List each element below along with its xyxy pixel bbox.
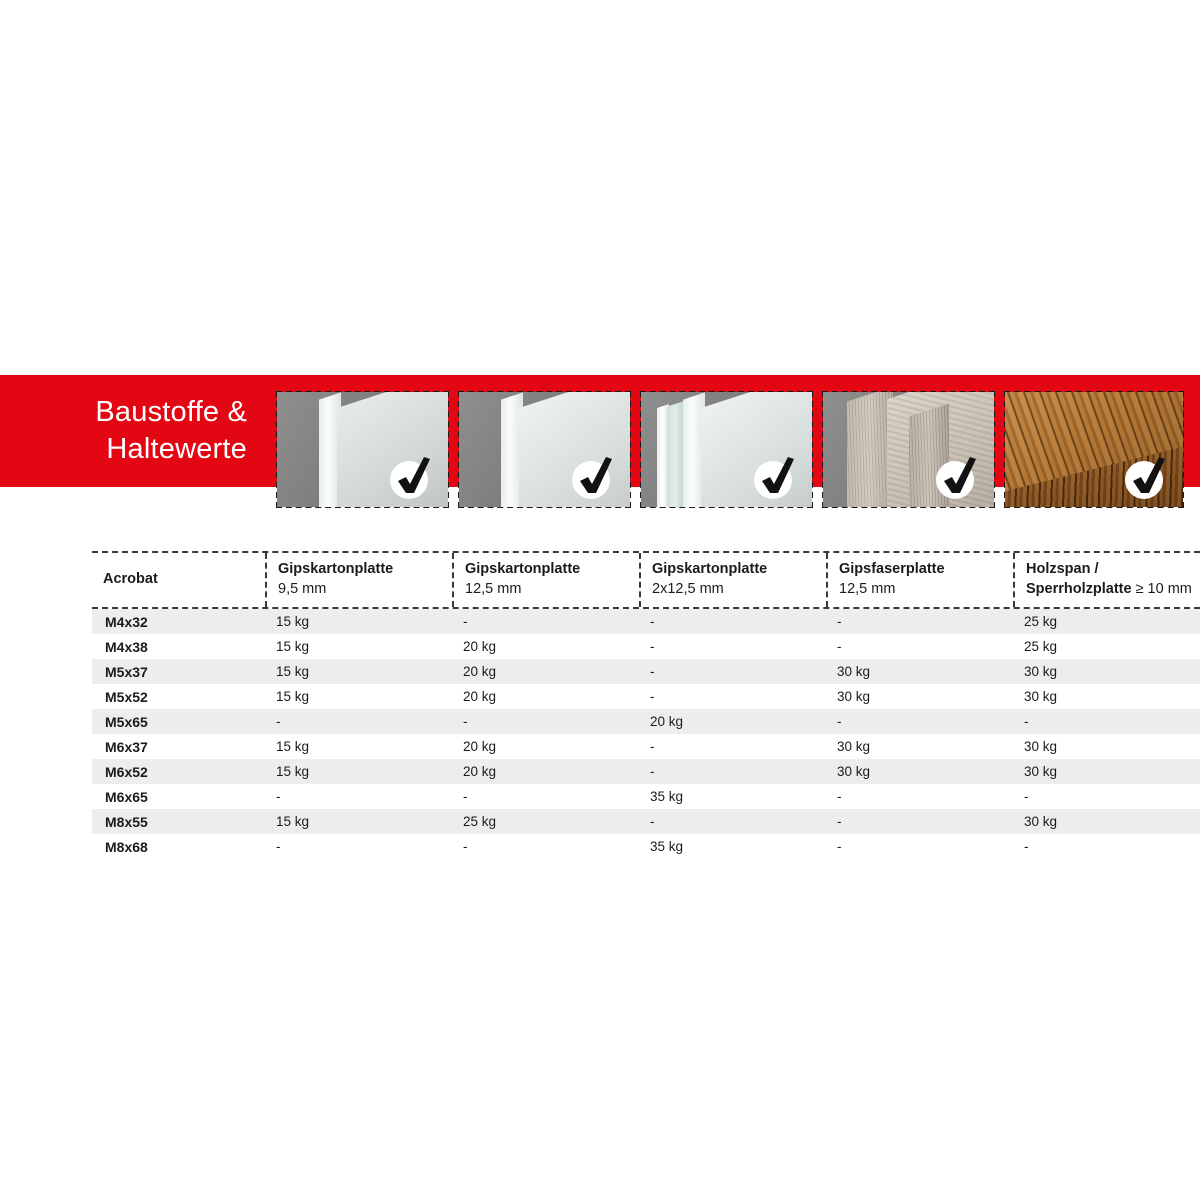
material-tile-strip (277, 392, 1200, 507)
column-header-subtitle: 2x12,5 mm (652, 580, 826, 600)
banner-title-line1: Baustoffe & (95, 394, 247, 431)
cell-value: 25 kg (1013, 639, 1200, 654)
cell-value: 15 kg (265, 814, 452, 829)
cell-value: - (639, 639, 826, 654)
cell-model: M6x65 (92, 789, 265, 805)
check-mark-icon (1125, 455, 1169, 499)
cell-value: - (826, 814, 1013, 829)
check-mark-icon (754, 455, 798, 499)
table-row: M6x5215 kg20 kg-30 kg30 kg (92, 759, 1200, 784)
banner-title: Baustoffe & Haltewerte (0, 375, 265, 487)
cell-value: 20 kg (452, 639, 639, 654)
cell-value: - (1013, 839, 1200, 854)
holding-values-table: Acrobat Gipskartonplatte 9,5 mm Gipskart… (92, 551, 1200, 859)
cell-model: M8x55 (92, 814, 265, 830)
cell-value: - (265, 789, 452, 804)
material-tile-gypsum-board-12-5 (459, 392, 630, 507)
column-header-title: Gipskartonplatte (278, 560, 452, 580)
cell-value: 15 kg (265, 664, 452, 679)
column-header-gipskartonplatte-12-5: Gipskartonplatte 12,5 mm (452, 553, 639, 607)
column-header-title: Acrobat (103, 570, 265, 590)
cell-value: - (826, 639, 1013, 654)
table-header: Acrobat Gipskartonplatte 9,5 mm Gipskart… (92, 551, 1200, 609)
banner-title-line2: Haltewerte (106, 431, 247, 468)
cell-value: 25 kg (452, 814, 639, 829)
column-header-gipskartonplatte-9-5: Gipskartonplatte 9,5 mm (265, 553, 452, 607)
cell-value: 30 kg (1013, 664, 1200, 679)
cell-value: - (826, 789, 1013, 804)
material-tile-gypsum-board-double-12-5 (641, 392, 812, 507)
check-mark-icon (390, 455, 434, 499)
column-header-title: Gipskartonplatte (652, 560, 826, 580)
column-header-title: Gipskartonplatte (465, 560, 639, 580)
table-row: M5x3715 kg20 kg-30 kg30 kg (92, 659, 1200, 684)
table-row: M8x5515 kg25 kg--30 kg (92, 809, 1200, 834)
table-header-row: Acrobat Gipskartonplatte 9,5 mm Gipskart… (92, 553, 1200, 607)
cell-value: - (826, 839, 1013, 854)
column-header-subtitle: 12,5 mm (839, 580, 1013, 600)
cell-value: 30 kg (826, 689, 1013, 704)
column-header-subtitle: 12,5 mm (465, 580, 639, 600)
page-root: Baustoffe & Haltewerte (0, 0, 1200, 1200)
column-header-subtitle: Sperrholzplatte ≥ 10 mm (1026, 580, 1200, 600)
board-core-layer (667, 401, 683, 507)
material-tile-gypsum-fibre-board-12-5 (823, 392, 994, 507)
check-mark-icon (572, 455, 616, 499)
column-header-acrobat: Acrobat (92, 553, 265, 607)
table-row: M4x3815 kg20 kg--25 kg (92, 634, 1200, 659)
table-body: M4x3215 kg---25 kgM4x3815 kg20 kg--25 kg… (92, 609, 1200, 859)
column-header-gipsfaserplatte-12-5: Gipsfaserplatte 12,5 mm (826, 553, 1013, 607)
cell-value: 15 kg (265, 764, 452, 779)
cell-value: 20 kg (452, 739, 639, 754)
cell-value: - (639, 814, 826, 829)
cell-value: - (265, 839, 452, 854)
cell-value: 30 kg (1013, 764, 1200, 779)
column-header-holzspan-sperrholzplatte: Holzspan / Sperrholzplatte ≥ 10 mm (1013, 553, 1200, 607)
cell-model: M6x37 (92, 739, 265, 755)
cell-value: 35 kg (639, 789, 826, 804)
cell-value: 20 kg (452, 689, 639, 704)
cell-value: - (452, 789, 639, 804)
column-header-subtitle: 9,5 mm (278, 580, 452, 600)
table-row: M5x65--20 kg-- (92, 709, 1200, 734)
cell-value: 25 kg (1013, 614, 1200, 629)
cell-value: 30 kg (1013, 814, 1200, 829)
cell-model: M4x32 (92, 614, 265, 630)
cell-value: 15 kg (265, 614, 452, 629)
cell-value: 15 kg (265, 639, 452, 654)
cell-value: 30 kg (1013, 689, 1200, 704)
table-row: M6x3715 kg20 kg-30 kg30 kg (92, 734, 1200, 759)
cell-value: - (1013, 789, 1200, 804)
check-mark-icon (936, 455, 980, 499)
cell-value: - (452, 839, 639, 854)
cell-value: - (1013, 714, 1200, 729)
column-header-title: Holzspan / (1026, 560, 1200, 580)
cell-value: 30 kg (826, 664, 1013, 679)
cell-value: - (826, 614, 1013, 629)
cell-value: - (639, 689, 826, 704)
column-header-title: Gipsfaserplatte (839, 560, 1013, 580)
cell-value: - (639, 614, 826, 629)
cell-value: 20 kg (639, 714, 826, 729)
table-row: M6x65--35 kg-- (92, 784, 1200, 809)
cell-model: M6x52 (92, 764, 265, 780)
cell-value: 30 kg (1013, 739, 1200, 754)
cell-value: 35 kg (639, 839, 826, 854)
cell-value: - (452, 614, 639, 629)
column-header-gipskartonplatte-2x12-5: Gipskartonplatte 2x12,5 mm (639, 553, 826, 607)
material-tile-chipboard-plywood (1005, 392, 1183, 507)
cell-model: M4x38 (92, 639, 265, 655)
cell-value: - (452, 714, 639, 729)
cell-model: M8x68 (92, 839, 265, 855)
table-row: M4x3215 kg---25 kg (92, 609, 1200, 634)
table-row: M5x5215 kg20 kg-30 kg30 kg (92, 684, 1200, 709)
cell-value: - (639, 664, 826, 679)
cell-value: - (639, 739, 826, 754)
cell-value: - (826, 714, 1013, 729)
cell-value: - (265, 714, 452, 729)
cell-value: 15 kg (265, 739, 452, 754)
table-row: M8x68--35 kg-- (92, 834, 1200, 859)
cell-model: M5x65 (92, 714, 265, 730)
cell-value: 20 kg (452, 664, 639, 679)
cell-value: - (639, 764, 826, 779)
cell-model: M5x37 (92, 664, 265, 680)
cell-model: M5x52 (92, 689, 265, 705)
column-header-subtitle-thickness: ≥ 10 mm (1132, 581, 1192, 597)
cell-value: 15 kg (265, 689, 452, 704)
cell-value: 30 kg (826, 739, 1013, 754)
column-header-subtitle-bold: Sperrholzplatte (1026, 581, 1132, 597)
cell-value: 20 kg (452, 764, 639, 779)
material-tile-gypsum-board-9-5 (277, 392, 448, 507)
cell-value: 30 kg (826, 764, 1013, 779)
